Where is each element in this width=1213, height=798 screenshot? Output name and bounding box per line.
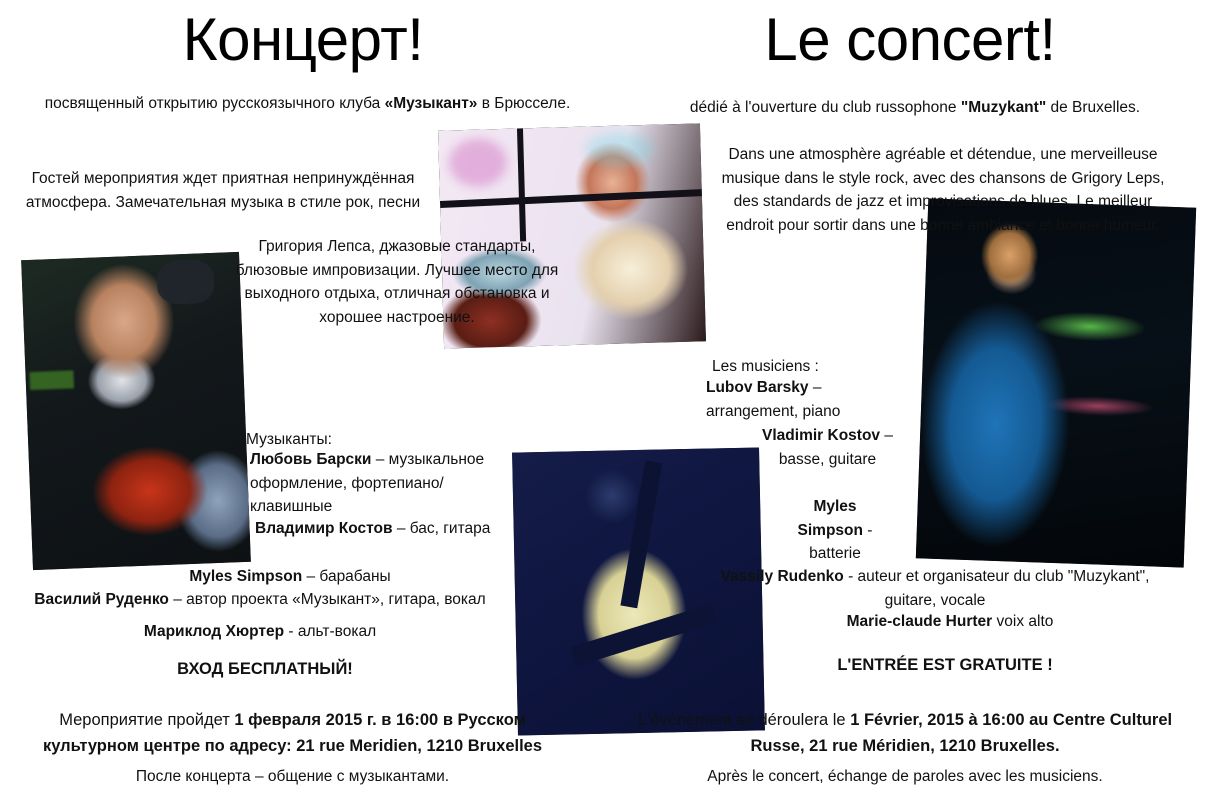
intro-paragraph-french: Dans une atmosphère agréable et détendue… — [713, 143, 1173, 237]
musician-role-french-4: - auteur et organisateur du club "Muzyka… — [844, 568, 1150, 609]
musician-entry-russian-4: Василий Руденко – автор проекта «Музыкан… — [0, 588, 520, 612]
musician-entry-russian-2: Владимир Костов – бас, гитара — [255, 517, 513, 541]
subtitle-french-pre: dédié à l'ouverture du club russophone — [690, 99, 961, 116]
subtitle-russian: посвященный открытию русскоязычного клуб… — [30, 92, 585, 116]
musician-role-russian-5: - альт-вокал — [284, 623, 376, 640]
event-details-french-pre: L'événement se déroulera le — [638, 711, 850, 729]
title-russian: Концерт! — [0, 8, 606, 71]
musician-entry-french-2: Vladimir Kostov – basse, guitare — [760, 424, 895, 471]
club-name-french: "Muzykant" — [961, 99, 1046, 116]
event-details-russian-pre: Мероприятие пройдет — [59, 711, 234, 729]
club-name-russian: «Музыкант» — [385, 95, 478, 112]
musician-name-french-1: Lubov Barsky — [706, 379, 809, 396]
photo-guitarist — [21, 252, 251, 570]
musician-name-french-2: Vladimir Kostov — [762, 427, 880, 444]
musician-name-russian-4: Василий Руденко — [34, 591, 169, 608]
intro-paragraph-russian: Гостей мероприятия ждет приятная неприну… — [8, 167, 438, 214]
musician-role-russian-3: – барабаны — [302, 568, 390, 585]
musician-entry-french-3: Myles Simpson - batterie — [780, 495, 890, 566]
musicians-heading-french: Les musiciens : — [712, 355, 912, 379]
musician-name-french-4: Vassily Rudenko — [721, 568, 844, 585]
title-french: Le concert! — [607, 8, 1213, 71]
musician-entry-french-1: Lubov Barsky – arrangement, piano — [706, 376, 896, 423]
subtitle-french: dédié à l'ouverture du club russophone "… — [635, 96, 1195, 120]
musician-entry-russian-1: Любовь Барски – музыкальное оформление, … — [250, 448, 512, 519]
musician-entry-french-5: Marie-claude Hurter voix alto — [740, 610, 1160, 634]
musician-role-russian-2: – бас, гитара — [397, 520, 491, 537]
subtitle-russian-pre: посвященный открытию русскоязычного клуб… — [45, 95, 385, 112]
musician-entry-russian-5: Мариклод Хюртер - альт-вокал — [30, 620, 490, 644]
subtitle-french-post: de Bruxelles. — [1046, 99, 1140, 116]
concert-poster: Концерт! посвященный открытию русскоязыч… — [0, 0, 1213, 798]
musician-role-french-5: voix alto — [992, 613, 1053, 630]
free-entry-french: L'ENTRÉE EST GRATUITE ! — [700, 653, 1190, 678]
musician-role-russian-4: – автор проекта «Музыкант», гитара, вока… — [169, 591, 486, 608]
musician-name-russian-3: Myles Simpson — [189, 568, 302, 585]
free-entry-russian: ВХОД БЕСПЛАТНЫЙ! — [30, 657, 500, 682]
subtitle-russian-post: в Брюсселе. — [477, 95, 570, 112]
musician-name-french-3: Myles Simpson — [798, 498, 863, 539]
after-concert-french: Après le concert, échange de paroles ave… — [615, 765, 1195, 789]
musician-name-russian-1: Любовь Барски — [250, 451, 371, 468]
after-concert-russian: После концерта – общение с музыкантами. — [10, 765, 575, 789]
musician-entry-french-4: Vassily Rudenko - auteur et organisateur… — [700, 565, 1170, 613]
musician-name-russian-5: Мариклод Хюртер — [144, 623, 284, 640]
event-details-french: L'événement se déroulera le 1 Février, 2… — [615, 707, 1195, 759]
event-details-russian: Мероприятие пройдет 1 февраля 2015 г. в … — [10, 707, 575, 759]
middle-paragraph-russian: Григория Лепса, джазовые стандарты, блюз… — [232, 235, 562, 329]
musician-name-russian-2: Владимир Костов — [255, 520, 397, 537]
musician-entry-russian-3: Myles Simpson – барабаны — [60, 565, 520, 589]
photo-pianist — [916, 198, 1196, 567]
musician-name-french-5: Marie-claude Hurter — [847, 613, 993, 630]
